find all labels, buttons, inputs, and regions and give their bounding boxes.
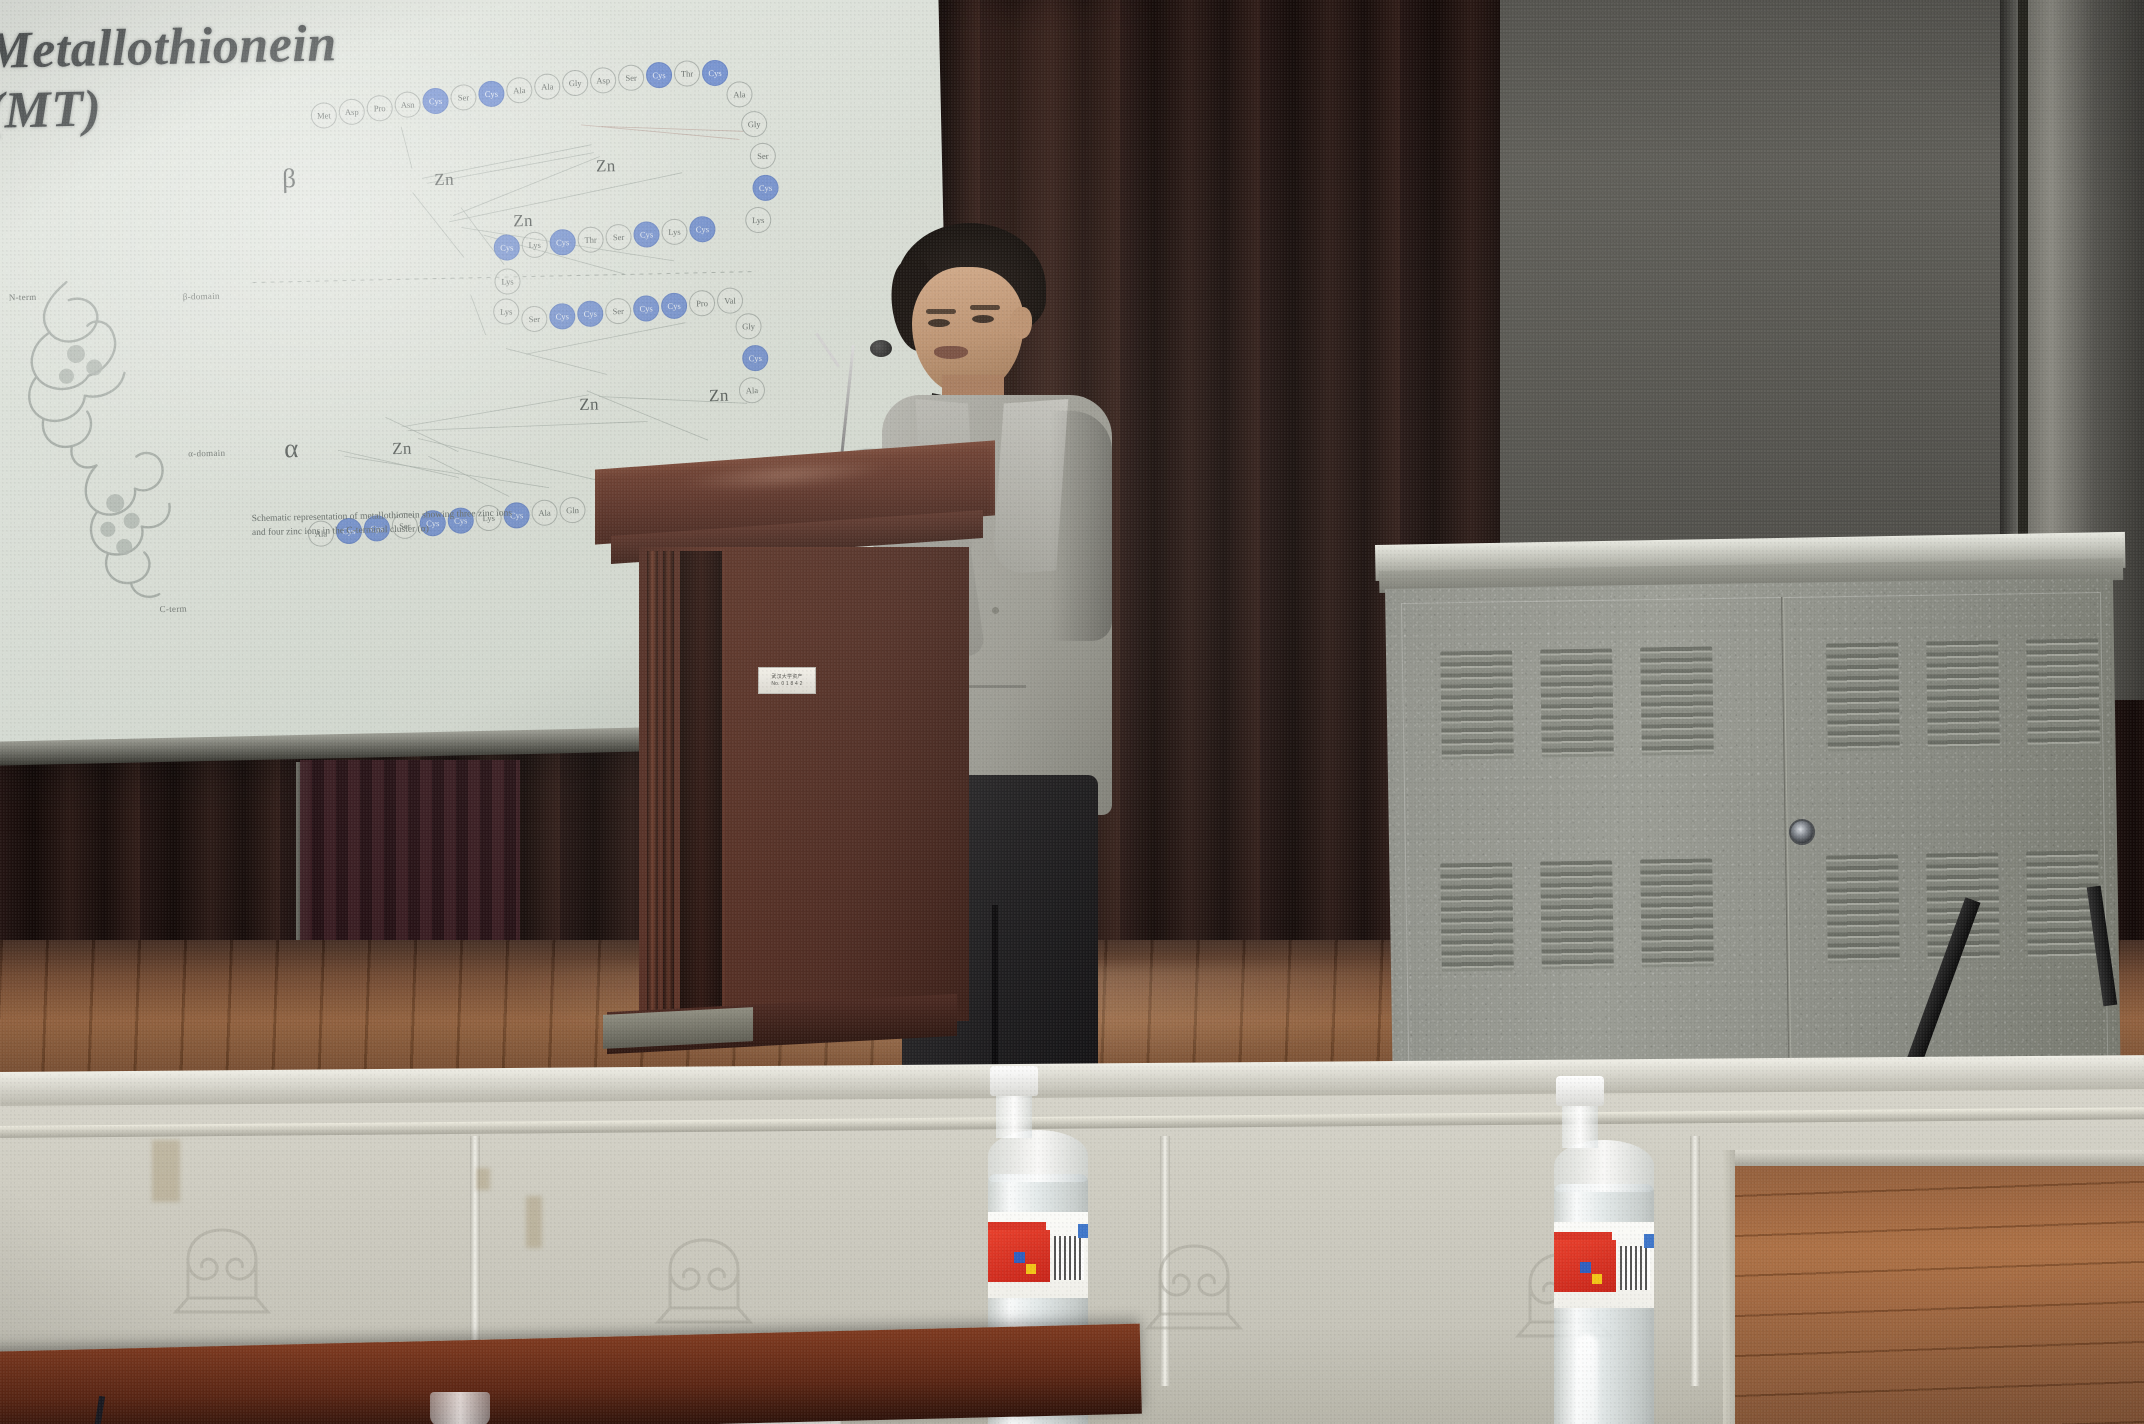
- side-curtain: [300, 760, 520, 960]
- podium-side-recess: [680, 551, 722, 1019]
- label-blue-square: [1580, 1262, 1591, 1273]
- zinc-ion-a1: Zn: [392, 439, 412, 459]
- cabinet-vent-3: [1640, 646, 1714, 755]
- lectern-podium: 武汉大学资产 No. 0 1 8 4 2: [595, 455, 995, 1065]
- stage-stain-2: [526, 1196, 542, 1248]
- cabinet-lock-icon[interactable]: [1789, 819, 1815, 845]
- cabinet-vent-6: [2026, 638, 2100, 747]
- cabinet-vent-1: [1440, 650, 1514, 759]
- water-bottle-right: [1556, 1076, 1656, 1424]
- bottle-label: [988, 1212, 1088, 1298]
- bottle-label: [1554, 1222, 1654, 1308]
- bottle-neck: [1562, 1104, 1598, 1148]
- stage-motif-2: [640, 1222, 768, 1342]
- stage-stain-1: [152, 1140, 180, 1202]
- steps-top-rail: [1735, 1150, 2144, 1166]
- bottle-neck: [996, 1094, 1032, 1138]
- speaker-eye-right: [972, 315, 994, 323]
- stage-motif-3: [1130, 1228, 1258, 1348]
- zinc-ion-a3: Zn: [709, 386, 729, 406]
- cabinet-vent-10: [1826, 854, 1900, 963]
- podium-asset-plaque: 武汉大学资产 No. 0 1 8 4 2: [758, 667, 816, 694]
- stage-motif-1: [158, 1212, 286, 1332]
- photo-scene: Metallothionein (MT): [0, 0, 2144, 1424]
- wooden-steps: [1735, 1155, 2144, 1424]
- speaker-brow-right: [970, 305, 1000, 310]
- label-blue-square: [1014, 1252, 1025, 1263]
- bottle-cap: [990, 1066, 1038, 1096]
- podium-front-panel: [725, 549, 969, 1021]
- zinc-ion-a2: Zn: [579, 395, 599, 415]
- label-blue-tab: [1078, 1224, 1088, 1238]
- foreground-glass: [430, 1392, 490, 1424]
- stage-panel-divider-3: [1690, 1136, 1700, 1386]
- label-yellow-square: [1026, 1264, 1036, 1274]
- zinc-ion-b3: Zn: [513, 211, 533, 231]
- label-barcode: [1054, 1236, 1084, 1280]
- stage-stain-3: [476, 1168, 490, 1190]
- speaker-ear: [1010, 307, 1032, 339]
- cabinet-vent-2: [1540, 648, 1614, 757]
- plaque-line-2: No. 0 1 8 4 2: [771, 681, 802, 688]
- speaker-brow-left: [926, 309, 956, 314]
- podium-flute-2: [663, 551, 674, 1011]
- plaque-line-1: 武汉大学资产: [771, 674, 802, 681]
- cabinet-vent-9: [1640, 858, 1714, 967]
- label-yellow-square: [1592, 1274, 1602, 1284]
- speaker-eye-left: [928, 319, 950, 327]
- label-barcode: [1620, 1246, 1650, 1290]
- cabinet-vent-5: [1926, 640, 2000, 749]
- speaker-shoulder-shadow: [1050, 411, 1112, 641]
- cabinet-vent-4: [1826, 642, 1900, 751]
- bottle-cap: [1556, 1076, 1604, 1106]
- zinc-ion-b1: Zn: [434, 170, 454, 190]
- equipment-cabinet: [1385, 545, 2115, 1085]
- back-wall-panel: [1500, 0, 2060, 560]
- zinc-ion-b2: Zn: [596, 156, 616, 176]
- podium-flute-1: [647, 551, 658, 1011]
- cabinet-vent-8: [1540, 860, 1614, 969]
- label-blue-tab: [1644, 1234, 1654, 1248]
- speaker-mouth: [934, 346, 968, 359]
- cabinet-vent-7: [1440, 862, 1514, 971]
